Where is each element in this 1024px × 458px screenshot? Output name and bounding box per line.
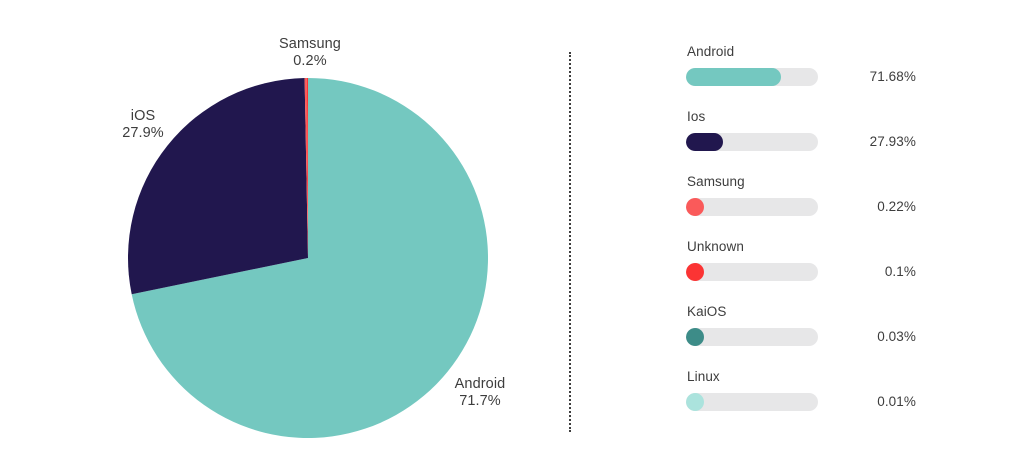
bar-track	[686, 68, 818, 86]
legend-label: Ios	[687, 109, 916, 125]
bar-track	[686, 393, 818, 411]
pie-label-samsung-value: 0.2%	[248, 53, 372, 70]
pie-label-ios: iOS 27.9%	[96, 108, 190, 142]
bar-line: 71.68%	[686, 68, 916, 86]
bar-value: 0.03%	[818, 328, 916, 346]
bar-value: 0.01%	[818, 393, 916, 411]
pie-chart-panel: Samsung 0.2% iOS 27.9% Android 71.7%	[0, 0, 568, 458]
legend-label: Android	[687, 44, 916, 60]
vertical-dotted-divider	[569, 52, 571, 432]
bar-value: 0.1%	[818, 263, 916, 281]
legend-row: KaiOS0.03%	[686, 304, 916, 369]
bar-line: 0.03%	[686, 328, 916, 346]
bar-fill-linux	[686, 393, 704, 411]
pie-label-android-name: Android	[418, 376, 542, 393]
bar-track	[686, 263, 818, 281]
legend-label: Samsung	[687, 174, 916, 190]
bar-line: 27.93%	[686, 133, 916, 151]
bar-line: 0.01%	[686, 393, 916, 411]
bar-value: 71.68%	[818, 68, 916, 86]
pie-label-ios-name: iOS	[96, 108, 190, 125]
legend-row: Linux0.01%	[686, 369, 916, 434]
legend-label: Linux	[687, 369, 916, 385]
bar-fill-unknown	[686, 263, 704, 281]
pie-label-android-value: 71.7%	[418, 393, 542, 410]
pie-label-samsung: Samsung 0.2%	[248, 36, 372, 70]
bar-value: 0.22%	[818, 198, 916, 216]
bar-line: 0.22%	[686, 198, 916, 216]
pie-label-samsung-name: Samsung	[248, 36, 372, 53]
legend-label: KaiOS	[687, 304, 916, 320]
legend-label: Unknown	[687, 239, 916, 255]
pie-label-ios-value: 27.9%	[96, 125, 190, 142]
legend-row: Ios27.93%	[686, 109, 916, 174]
bar-fill-android	[686, 68, 781, 86]
bar-track	[686, 328, 818, 346]
bar-value: 27.93%	[818, 133, 916, 151]
bar-fill-samsung	[686, 198, 704, 216]
bar-track	[686, 133, 818, 151]
pie-label-android: Android 71.7%	[418, 376, 542, 410]
bar-fill-ios	[686, 133, 723, 151]
bar-fill-kaios	[686, 328, 704, 346]
legend-row: Android71.68%	[686, 44, 916, 109]
os-market-share-chart: Samsung 0.2% iOS 27.9% Android 71.7% And…	[0, 0, 1024, 458]
legend-bar-panel: Android71.68%Ios27.93%Samsung0.22%Unknow…	[686, 44, 916, 434]
legend-row: Samsung0.22%	[686, 174, 916, 239]
legend-row: Unknown0.1%	[686, 239, 916, 304]
bar-track	[686, 198, 818, 216]
bar-line: 0.1%	[686, 263, 916, 281]
